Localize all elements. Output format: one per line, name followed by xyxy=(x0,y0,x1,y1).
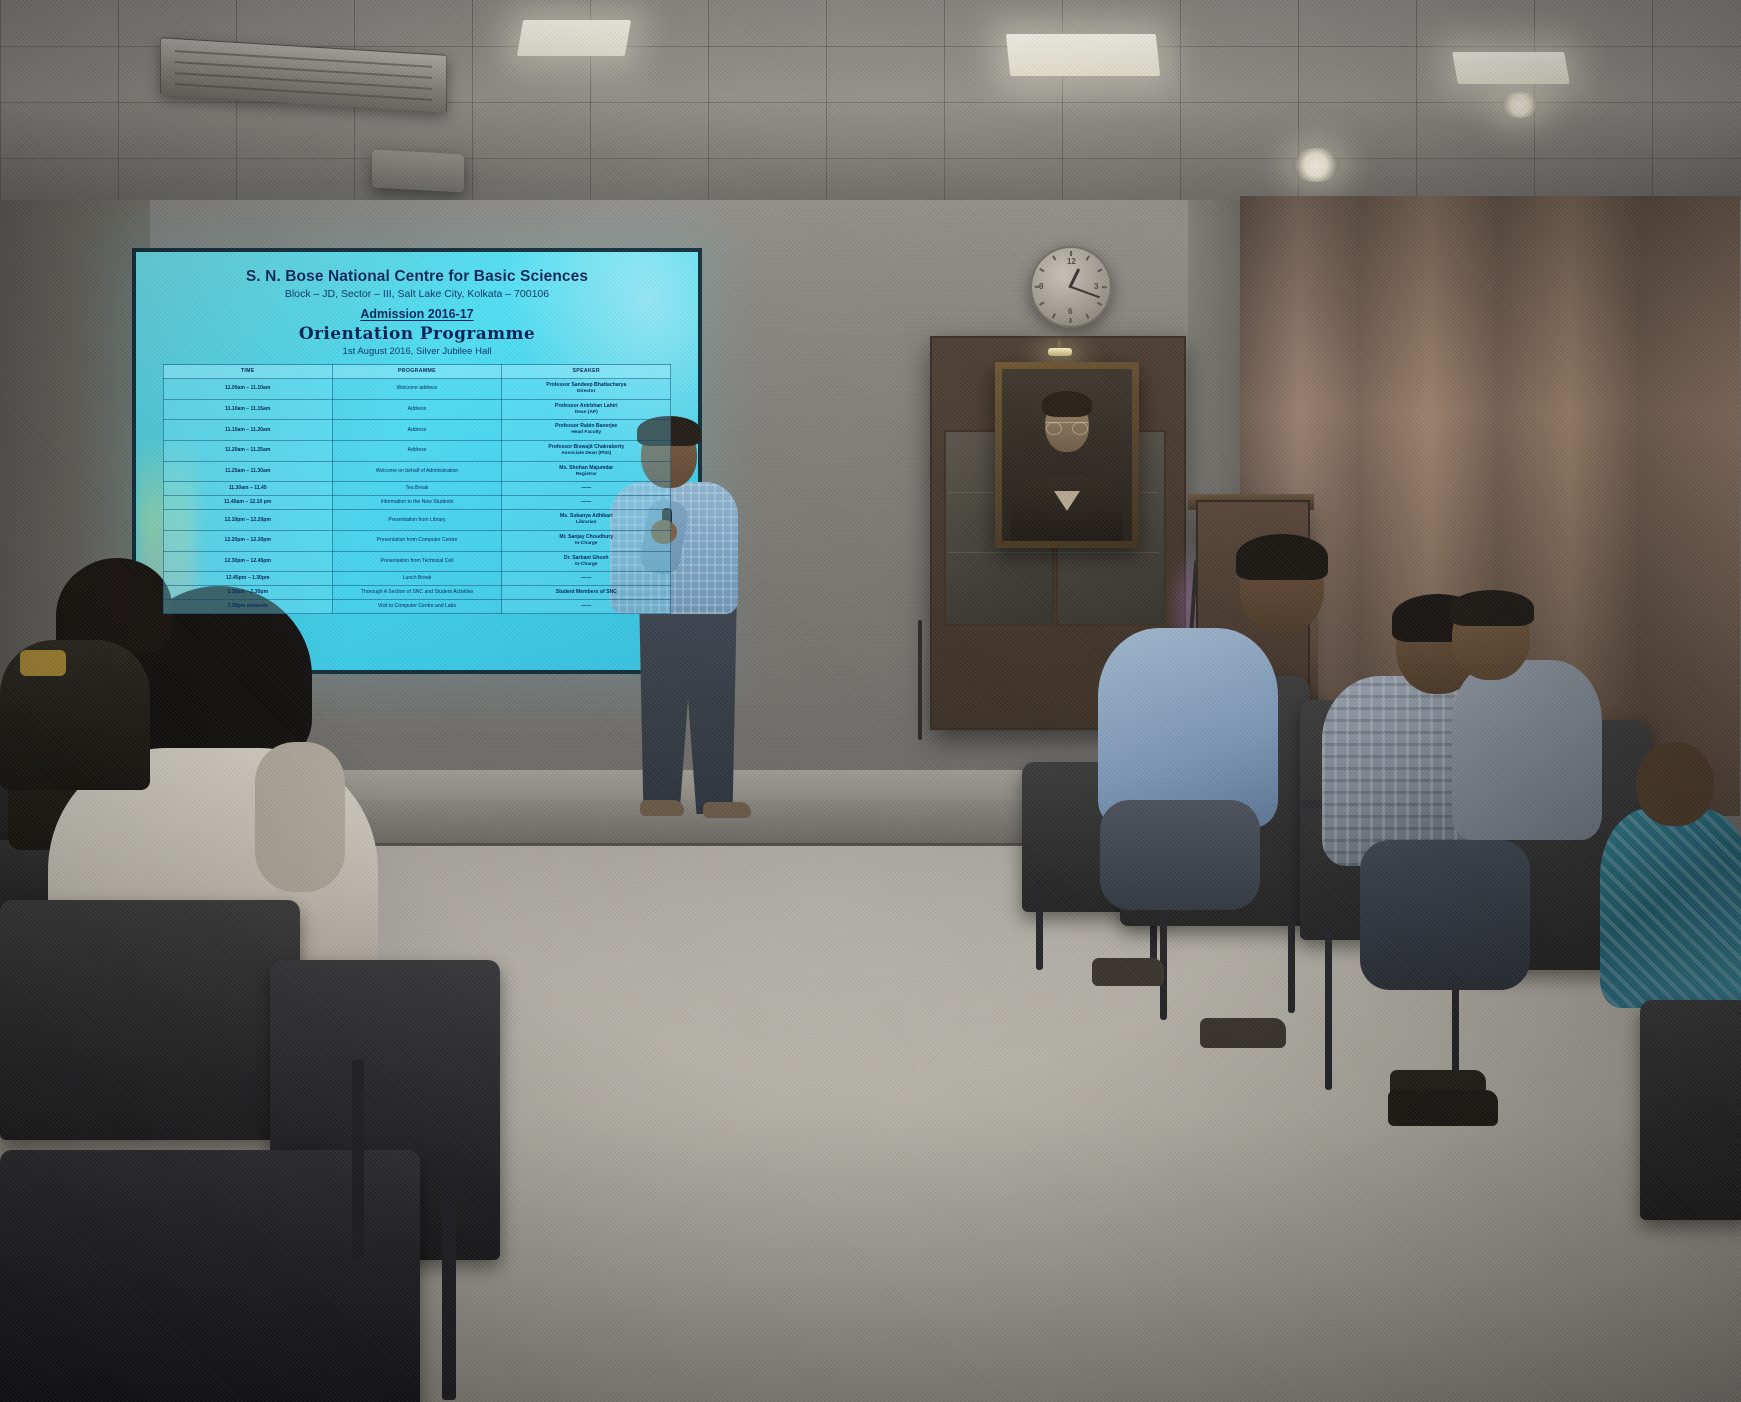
cell-programme: Thorough A Section of SNC and Student Ac… xyxy=(332,586,501,600)
table-row: 12.20pm – 12.30pmPresentation from Compu… xyxy=(163,530,671,551)
cell-programme: Presentation from Technical Cell xyxy=(332,551,501,572)
col-header-programme: PROGRAMME xyxy=(332,365,501,379)
ceiling xyxy=(0,0,1741,215)
slide-title: Orientation Programme xyxy=(152,324,682,344)
cell-speaker: Mr. Sanjay ChoudhuryIn-Charge xyxy=(502,530,671,551)
cell-speaker-name: Professor Rabin Banerjee xyxy=(555,423,617,429)
table-row: 11.25am – 11.30amWelcome on behalf of Ad… xyxy=(163,461,671,482)
presenter-shoe-left xyxy=(640,800,684,816)
presenter-shoe-right xyxy=(703,802,751,818)
cell-speaker: Dr. Sarbani GhoshIn-Charge xyxy=(502,551,671,572)
foreground-attendee-center-arm xyxy=(255,742,345,892)
table-row: 12.30pm – 12.45pmPresentation from Techn… xyxy=(163,551,671,572)
slide-date-venue: 1st August 2016, Silver Jubilee Hall xyxy=(152,346,682,357)
clock-numeral-9: 9 xyxy=(1039,282,1043,291)
cell-programme: Presentation from Library xyxy=(332,510,501,531)
chair-foreground-1 xyxy=(0,900,300,1140)
slide-org-address: Block – JD, Sector – III, Salt Lake City… xyxy=(152,288,682,300)
table-row: 2.30pm onwardsVisit to Computer Centre a… xyxy=(163,600,671,614)
cell-speaker: —— xyxy=(502,572,671,586)
cell-speaker-name: —— xyxy=(581,499,591,505)
auditorium-photo: wall-clock 12 3 6 9 xyxy=(0,0,1741,1402)
cell-speaker-name: —— xyxy=(581,575,591,581)
ceiling-recessed-light-1 xyxy=(1292,148,1340,182)
cell-programme: Welcome address xyxy=(332,379,501,400)
cell-time: 12.30pm – 12.45pm xyxy=(163,551,332,572)
ceiling-recessed-light-2 xyxy=(1500,92,1540,118)
cell-time: 12.45pm – 1.30pm xyxy=(163,572,332,586)
clock-numeral-6: 6 xyxy=(1068,307,1072,316)
audience-shoe-far xyxy=(1388,1090,1498,1126)
portrait-image xyxy=(1002,369,1132,541)
table-row: 12.45pm – 1.30pmLunch Break—— xyxy=(163,572,671,586)
chair-foreground-leg-2 xyxy=(442,1190,456,1400)
cell-programme: Presentation from Computer Centre xyxy=(332,530,501,551)
audience-member-1-shoe2 xyxy=(1200,1018,1286,1048)
cabinet-shelf-2 xyxy=(948,552,1158,553)
audience-member-1-legs xyxy=(1100,800,1260,910)
cell-speaker-name: Mr. Sanjay Choudhury xyxy=(559,534,613,540)
slide-content: S. N. Bose National Centre for Basic Sci… xyxy=(136,252,698,614)
audience-member-4-head xyxy=(1636,742,1714,826)
cell-speaker-name: —— xyxy=(581,603,591,609)
table-row: 12.10pm – 12.20pmPresentation from Libra… xyxy=(163,510,671,531)
audience-member-1-shoe xyxy=(1092,958,1164,986)
cell-speaker-role: Librarian xyxy=(504,520,668,527)
cell-speaker: Ms. Shohan MajumdarRegistrar xyxy=(502,461,671,482)
cell-programme: Address xyxy=(332,420,501,441)
cell-speaker-role: In-Charge xyxy=(504,562,668,569)
cell-speaker-role: Dean (AP) xyxy=(504,410,668,417)
cell-speaker-role: Director xyxy=(504,389,668,396)
col-header-time: TIME xyxy=(163,365,332,379)
audience-member-3-hair xyxy=(1450,590,1534,626)
foreground-attendee-far-left-label: attendee in dark top xyxy=(0,0,4,3)
portrait-hair xyxy=(1042,391,1092,417)
chair-right-5 xyxy=(1640,1000,1741,1220)
cell-speaker-role: Associate Dean (PhD) xyxy=(504,451,668,458)
cell-speaker: Student Members of SNC xyxy=(502,586,671,600)
cell-speaker: —— xyxy=(502,496,671,510)
table-row: 11.00am – 11.10amWelcome addressProfesso… xyxy=(163,379,671,400)
cell-speaker-name: Professor Biswajit Chakraborty xyxy=(548,444,624,450)
cell-programme: Visit to Computer Centre and Labs xyxy=(332,600,501,614)
cell-speaker-name: —— xyxy=(581,485,591,491)
cell-speaker-name: Professor Sandeep Bhattacharya xyxy=(546,382,626,388)
cell-speaker: Professor Sandeep BhattacharyaDirector xyxy=(502,379,671,400)
cell-time: 11.25am – 11.30am xyxy=(163,461,332,482)
cell-time: 11.10am – 11.15am xyxy=(163,399,332,420)
cell-speaker-name: Ms. Sukanya Adhikari xyxy=(560,513,612,519)
audience-member-1-torso xyxy=(1098,628,1278,828)
cell-programme: Welcome on behalf of Administration xyxy=(332,461,501,482)
ceiling-shading xyxy=(0,0,1741,215)
cell-time: 12.20pm – 12.30pm xyxy=(163,530,332,551)
programme-table: TIME PROGRAMME SPEAKER 11.00am – 11.10am… xyxy=(163,364,672,614)
projection-screen: S. N. Bose National Centre for Basic Sci… xyxy=(136,252,698,670)
portrait-frame xyxy=(995,362,1139,548)
slide-org-name: S. N. Bose National Centre for Basic Sci… xyxy=(152,268,682,286)
cell-speaker: —— xyxy=(502,600,671,614)
cell-programme: Tea Break xyxy=(332,482,501,496)
cell-time: 11.15am – 11.20am xyxy=(163,420,332,441)
cell-speaker: Professor Anirbhan LahiriDean (AP) xyxy=(502,399,671,420)
cell-speaker: —— xyxy=(502,482,671,496)
cell-speaker-name: Student Members of SNC xyxy=(556,589,617,595)
col-header-speaker: SPEAKER xyxy=(502,365,671,379)
table-row: 11.30am – 11.45Tea Break—— xyxy=(163,482,671,496)
wall-clock: 12 3 6 9 xyxy=(1030,246,1112,328)
chair-right-3-leg xyxy=(1325,930,1332,1090)
audience-member-4-pattern xyxy=(1600,808,1741,1008)
cell-time: 2.30pm onwards xyxy=(163,600,332,614)
cell-speaker: Ms. Sukanya AdhikariLibrarian xyxy=(502,510,671,531)
projection-screen-frame: S. N. Bose National Centre for Basic Sci… xyxy=(132,248,702,674)
clock-hour-hand xyxy=(1068,268,1080,288)
clock-numeral-12: 12 xyxy=(1067,257,1076,266)
slide-admission-line: Admission 2016-17 xyxy=(152,307,682,321)
table-row: 11.15am – 11.20amAddressProfessor Rabin … xyxy=(163,420,671,441)
portrait-spectacles-icon xyxy=(1046,422,1088,434)
cell-speaker-name: Professor Anirbhan Lahiri xyxy=(555,403,618,409)
table-row: 11.10am – 11.15amAddressProfessor Anirbh… xyxy=(163,399,671,420)
cell-programme: Address xyxy=(332,441,501,462)
chair-right-1-leg xyxy=(1036,880,1043,970)
ceiling-panel-light-2 xyxy=(1006,34,1160,76)
picture-light xyxy=(1048,348,1072,356)
cell-programme: Information to the New Students xyxy=(332,496,501,510)
cell-speaker: Professor Rabin BanerjeeHead Faculty xyxy=(502,420,671,441)
cell-speaker-name: Dr. Sarbani Ghosh xyxy=(564,555,608,561)
cell-time: 11.00am – 11.10am xyxy=(163,379,332,400)
cell-time: 12.10pm – 12.20pm xyxy=(163,510,332,531)
audience-member-1-hair xyxy=(1236,534,1328,580)
cell-speaker-name: Ms. Shohan Majumdar xyxy=(559,465,613,471)
audience-member-2-legs xyxy=(1360,840,1530,990)
cell-time: 1.30pm – 2.30pm xyxy=(163,586,332,600)
audience-member-3-torso xyxy=(1452,660,1602,840)
table-header-row: TIME PROGRAMME SPEAKER xyxy=(163,365,671,379)
cell-time: 11.20am – 11.25am xyxy=(163,441,332,462)
ceiling-speaker xyxy=(372,150,464,193)
cell-speaker: Professor Biswajit ChakrabortyAssociate … xyxy=(502,441,671,462)
cell-time: 11.45am – 12.10 pm xyxy=(163,496,332,510)
table-row: 1.30pm – 2.30pmThorough A Section of SNC… xyxy=(163,586,671,600)
cell-programme: Address xyxy=(332,399,501,420)
table-row: 11.45am – 12.10 pmInformation to the New… xyxy=(163,496,671,510)
chair-foreground-leg-1 xyxy=(352,1060,364,1260)
cell-speaker-role: Registrar xyxy=(504,472,668,479)
wall-cable-1 xyxy=(918,620,922,740)
cell-speaker-role: Head Faculty xyxy=(504,430,668,437)
cell-speaker-role: In-Charge xyxy=(504,541,668,548)
ceiling-panel-light-3 xyxy=(1452,52,1570,84)
table-row: 11.20am – 11.25amAddressProfessor Biswaj… xyxy=(163,441,671,462)
yellow-accent-object xyxy=(20,650,66,676)
clock-numeral-3: 3 xyxy=(1094,282,1098,291)
ceiling-panel-light-1 xyxy=(517,20,631,56)
chair-right-2-leg2 xyxy=(1288,905,1295,1013)
cell-time: 11.30am – 11.45 xyxy=(163,482,332,496)
cell-programme: Lunch Break xyxy=(332,572,501,586)
